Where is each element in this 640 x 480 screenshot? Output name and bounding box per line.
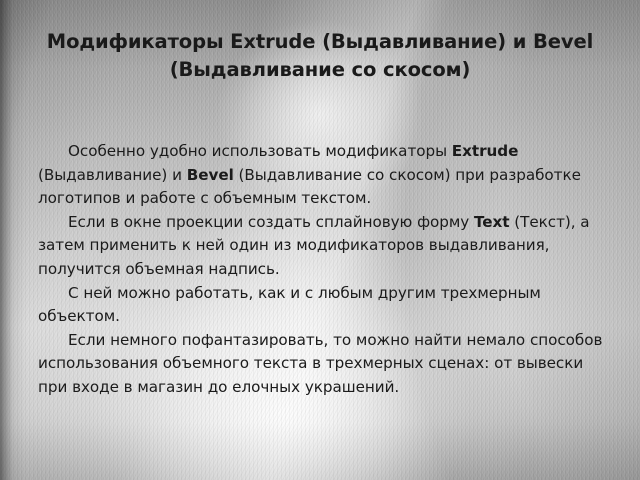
paragraph: Если в окне проекции создать сплайновую …: [38, 211, 604, 282]
paragraph: Особенно удобно использовать модификатор…: [38, 140, 604, 211]
paragraph: С ней можно работать, как и с любым друг…: [38, 282, 604, 329]
presentation-slide: Модификаторы Extrude (Выдавливание) и Be…: [0, 0, 640, 480]
slide-title: Модификаторы Extrude (Выдавливание) и Be…: [22, 28, 618, 84]
paragraph: Если немного пофантазировать, то можно н…: [38, 329, 604, 400]
slide-content: Модификаторы Extrude (Выдавливание) и Be…: [0, 0, 640, 480]
slide-body: Особенно удобно использовать модификатор…: [38, 140, 604, 400]
